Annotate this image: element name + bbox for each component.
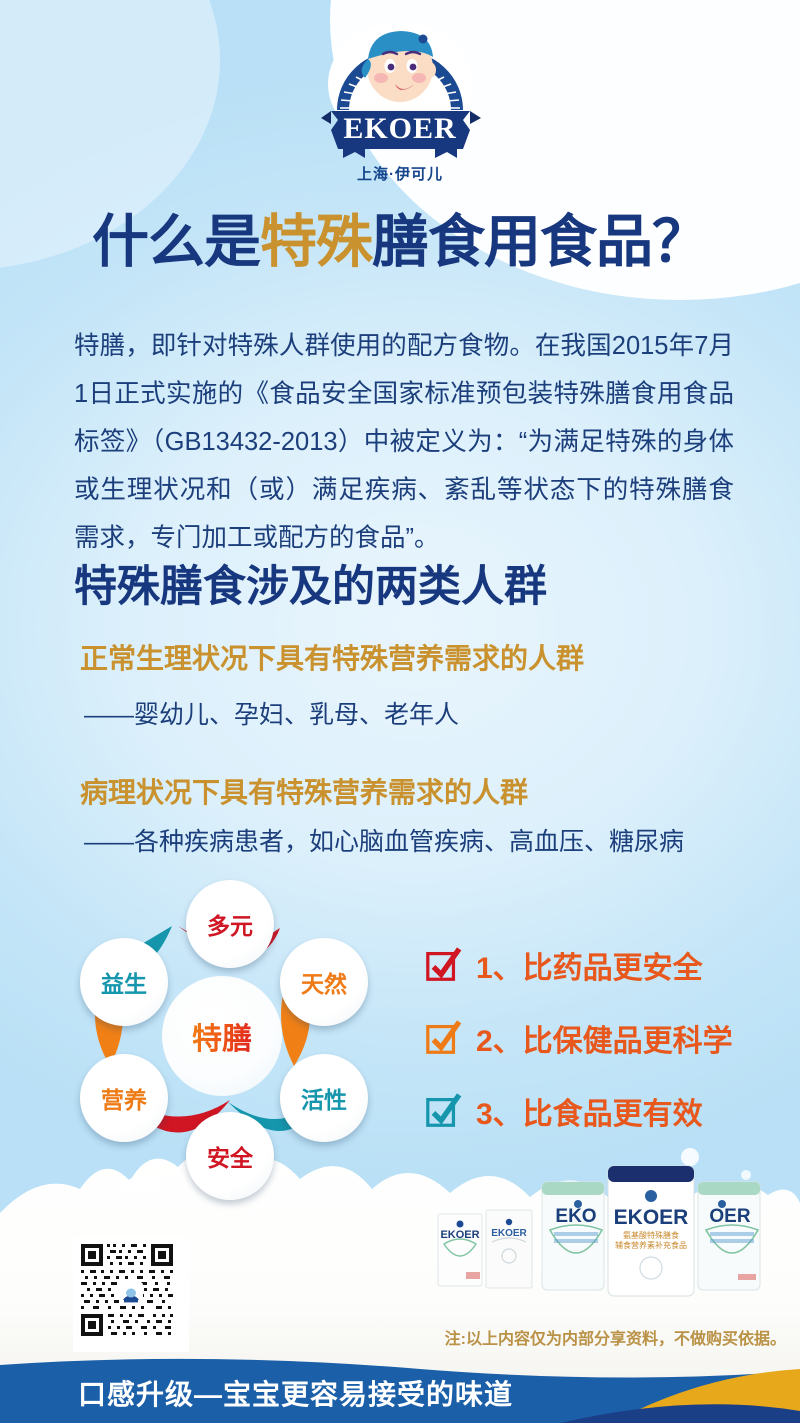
hex-node-label-top-left: 益生 — [101, 965, 147, 999]
title-part-1: 什么是 — [92, 210, 260, 274]
hex-node-label-top: 多元 — [207, 907, 253, 941]
hex-node-bottom[interactable]: 安全 — [186, 1112, 274, 1200]
svg-text:EKOER: EKOER — [614, 1206, 689, 1229]
svg-text:氨基酸特殊膳食: 氨基酸特殊膳食 — [623, 1230, 679, 1240]
hex-node-label-bottom-right: 活性 — [301, 1081, 347, 1115]
checkbox-checked-icon — [424, 1019, 462, 1057]
svg-text:EKOER: EKOER — [343, 112, 456, 145]
svg-text:辅食营养素补充食品: 辅食营养素补充食品 — [615, 1240, 687, 1250]
bottom-banner: 口感升级—宝宝更容易接受的味道 — [0, 1353, 800, 1423]
product-lineup-icon: EKOER EKOER EKO — [430, 1152, 800, 1327]
checkbox-checked-icon — [424, 946, 462, 984]
hex-node-label-bottom-left: 营养 — [101, 1081, 147, 1115]
hex-node-label-top-right: 天然 — [301, 965, 347, 999]
hex-node-top-left[interactable]: 益生 — [80, 938, 168, 1026]
hex-node-label-bottom: 安全 — [207, 1139, 253, 1173]
hex-node-bottom-right[interactable]: 活性 — [280, 1054, 368, 1142]
qr-code[interactable] — [73, 1236, 189, 1352]
checklist-item-3[interactable]: 3、比食品更有效 — [424, 1074, 774, 1147]
definition-paragraph: 特膳，即针对特殊人群使用的配方食物。在我国2015年7月1日正式实施的《食品安全… — [74, 322, 734, 562]
svg-text:OER: OER — [709, 1206, 750, 1227]
svg-text:EKOER: EKOER — [491, 1228, 527, 1239]
svg-text:EKO: EKO — [555, 1206, 596, 1227]
product-lineup: EKOER EKOER EKO — [430, 1152, 800, 1327]
logo-subtitle: 上海·伊可儿 — [357, 163, 443, 184]
group-detail-1: ——婴幼儿、孕妇、乳母、老年人 — [84, 695, 784, 731]
hexagon-diagram: 特膳 多元 天然 活性 安全 营养 益生 — [58, 866, 408, 1206]
product-box-1: EKOER — [438, 1214, 482, 1286]
checkbox-checked-icon — [424, 1092, 462, 1130]
brand-mark-icon — [119, 1282, 143, 1306]
hex-center-label: 特膳 — [192, 1014, 252, 1058]
group-detail-2: ——各种疾病患者，如心脑血管疾病、高血压、糖尿病 — [84, 822, 784, 858]
hex-node-top[interactable]: 多元 — [186, 880, 274, 968]
poster-root: EKOER 上海·伊可儿 什么是特殊膳食用食品？ 特膳，即针对特殊人群使用的配方… — [0, 0, 800, 1423]
section-title: 特殊膳食涉及的两类人群 — [74, 552, 754, 614]
product-can-center: EKOER 氨基酸特殊膳食 辅食营养素补充食品 — [608, 1166, 694, 1296]
hex-node-top-right[interactable]: 天然 — [280, 938, 368, 1026]
logo-badge: EKOER — [313, 12, 488, 162]
product-can-left: EKO — [542, 1182, 604, 1290]
disclaimer-note: 注:以上内容仅为内部分享资料，不做购买依据。 — [445, 1325, 786, 1349]
bottom-banner-text: 口感升级—宝宝更容易接受的味道 — [78, 1373, 513, 1413]
hex-node-bottom-left[interactable]: 营养 — [80, 1054, 168, 1142]
checklist-label-2: 2、比保健品更科学 — [476, 1016, 733, 1060]
group-heading-2: 病理状况下具有特殊营养需求的人群 — [80, 771, 760, 811]
group-heading-1: 正常生理状况下具有特殊营养需求的人群 — [80, 637, 760, 677]
baby-mascot-icon: EKOER — [313, 12, 488, 162]
hex-center-node: 特膳 — [162, 976, 282, 1096]
checklist-label-1: 1、比药品更安全 — [476, 943, 703, 987]
checklist-item-1[interactable]: 1、比药品更安全 — [424, 928, 774, 1001]
product-box-2: EKOER — [486, 1210, 532, 1288]
page-title: 什么是特殊膳食用食品？ — [0, 196, 800, 278]
title-part-3: 膳食用食品？ — [372, 210, 708, 274]
brand-logo: EKOER 上海·伊可儿 — [0, 12, 800, 184]
benefits-checklist: 1、比药品更安全 2、比保健品更科学 3、比食品更有效 — [424, 928, 774, 1147]
product-can-right: OER — [698, 1182, 760, 1290]
checklist-item-2[interactable]: 2、比保健品更科学 — [424, 1001, 774, 1074]
checklist-label-3: 3、比食品更有效 — [476, 1089, 703, 1133]
title-part-2: 特殊 — [260, 210, 372, 274]
